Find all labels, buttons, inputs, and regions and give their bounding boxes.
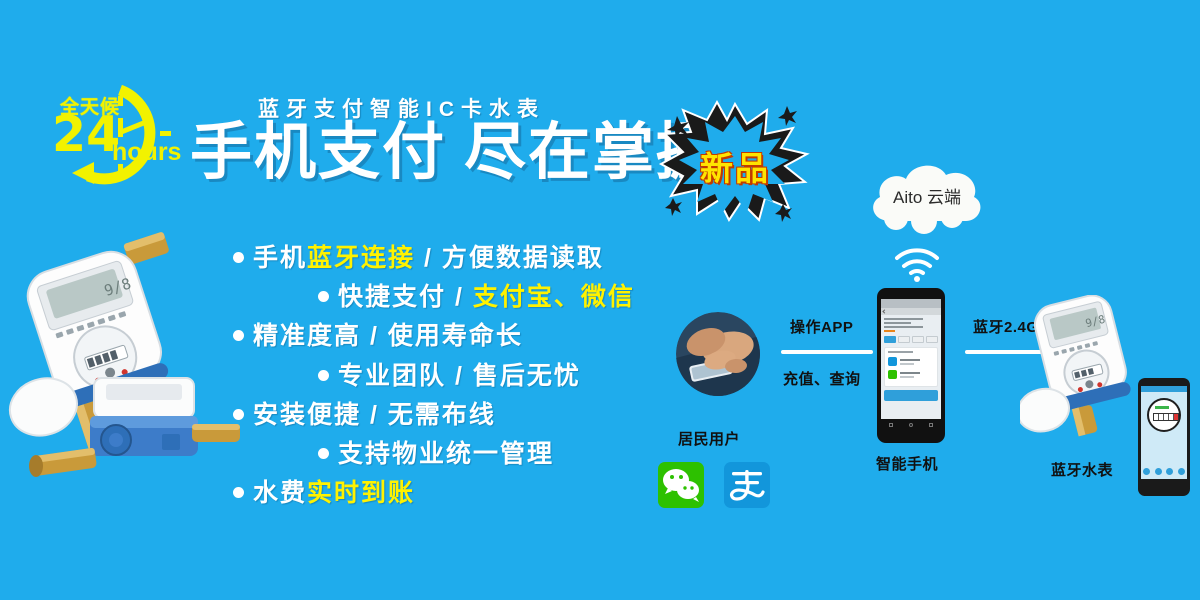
phone-confirm-pay-button[interactable]	[884, 390, 938, 401]
new-product-burst: 新品	[655, 98, 815, 223]
feature-item: 支持物业统一管理	[318, 434, 554, 470]
smartphone-screen	[881, 299, 941, 430]
bullet-dot-icon	[318, 370, 329, 381]
feature-text-pre: 支持物业统一管理	[338, 440, 554, 468]
alipay-icon[interactable]	[724, 462, 770, 508]
feature-text-pre: 快捷支付 /	[338, 283, 473, 311]
wechat-pay-icon	[888, 370, 897, 379]
alipay-icon	[888, 357, 897, 366]
resident-user-label: 居民用户	[678, 428, 740, 449]
feature-item: 手机蓝牙连接 / 方便数据读取	[233, 238, 604, 274]
feature-text-pre: 精准度高 / 使用寿命长	[253, 322, 523, 350]
phone-payment-card	[884, 347, 938, 387]
recharge-query-label: 充值、查询	[783, 368, 861, 389]
bluetooth-water-meter-image: 9/8	[1020, 295, 1150, 455]
feature-text-highlight: 实时到账	[307, 479, 415, 507]
feature-text-post: / 方便数据读取	[415, 244, 604, 272]
feature-text-highlight: 支付宝、微信	[473, 283, 635, 311]
feature-item: 快捷支付 / 支付宝、微信	[318, 277, 635, 313]
banner-title: 手机支付尽在掌握	[190, 122, 720, 184]
phone-nav-bar	[881, 308, 941, 315]
feature-item: 专业团队 / 售后无忧	[318, 356, 581, 392]
connector-line-left	[781, 350, 873, 354]
banner-title-part1: 手机支付	[190, 118, 446, 187]
phone-soft-keys	[1141, 479, 1187, 487]
feature-text-pre: 安装便捷 / 无需布线	[253, 401, 496, 429]
feature-item: 安装便捷 / 无需布线	[233, 395, 496, 431]
wifi-icon	[893, 248, 941, 284]
wechat-pay-icon[interactable]	[658, 462, 704, 508]
cloud-label: Aito 云端	[862, 183, 992, 208]
phone-status-bar	[881, 299, 941, 308]
phone-wechat-option	[888, 370, 934, 379]
smartphone-label: 智能手机	[876, 453, 938, 474]
bullet-dot-icon	[233, 409, 244, 420]
phone-soft-keys	[881, 419, 941, 430]
feature-text-pre: 手机	[253, 244, 307, 272]
resident-user-photo	[676, 312, 760, 396]
meter-reading-phone	[1138, 378, 1190, 496]
smartphone-device	[877, 288, 945, 443]
payment-icons-group	[658, 462, 770, 508]
phone-alipay-option	[888, 357, 934, 366]
phone-amount-chips	[881, 334, 941, 345]
bullet-dot-icon	[318, 448, 329, 459]
new-product-label: 新品	[655, 142, 815, 190]
bullet-dot-icon	[233, 487, 244, 498]
bullet-dot-icon	[318, 291, 329, 302]
feature-text-pre: 专业团队 / 售后无忧	[338, 362, 581, 390]
bullet-dot-icon	[233, 330, 244, 341]
badge-unit: hours	[112, 140, 181, 165]
app-action-icons	[1141, 468, 1187, 475]
feature-text-highlight: 蓝牙连接	[307, 244, 415, 272]
bluetooth-meter-label: 蓝牙水表	[1051, 459, 1113, 480]
promo-banner: 全天候 24 hours 蓝牙支付智能IC卡水表 手机支付尽在掌握 新品	[0, 0, 1200, 600]
twentyfour-hours-badge: 全天候 24 hours	[50, 80, 190, 190]
feature-text-pre: 水费	[253, 479, 307, 507]
app-header-bar	[1141, 386, 1187, 392]
badge-number: 24	[52, 110, 120, 159]
feature-item: 精准度高 / 使用寿命长	[233, 316, 523, 352]
bullet-dot-icon	[233, 252, 244, 263]
operate-app-label: 操作APP	[790, 316, 853, 337]
feature-item: 水费实时到账	[233, 473, 415, 509]
ic-card-water-meter-image: 9/8	[8, 230, 253, 515]
meter-reading-screen	[1141, 386, 1187, 487]
cloud-shape: Aito 云端	[862, 155, 992, 235]
meter-dial-graphic	[1147, 398, 1181, 432]
phone-info-rows	[881, 315, 941, 332]
